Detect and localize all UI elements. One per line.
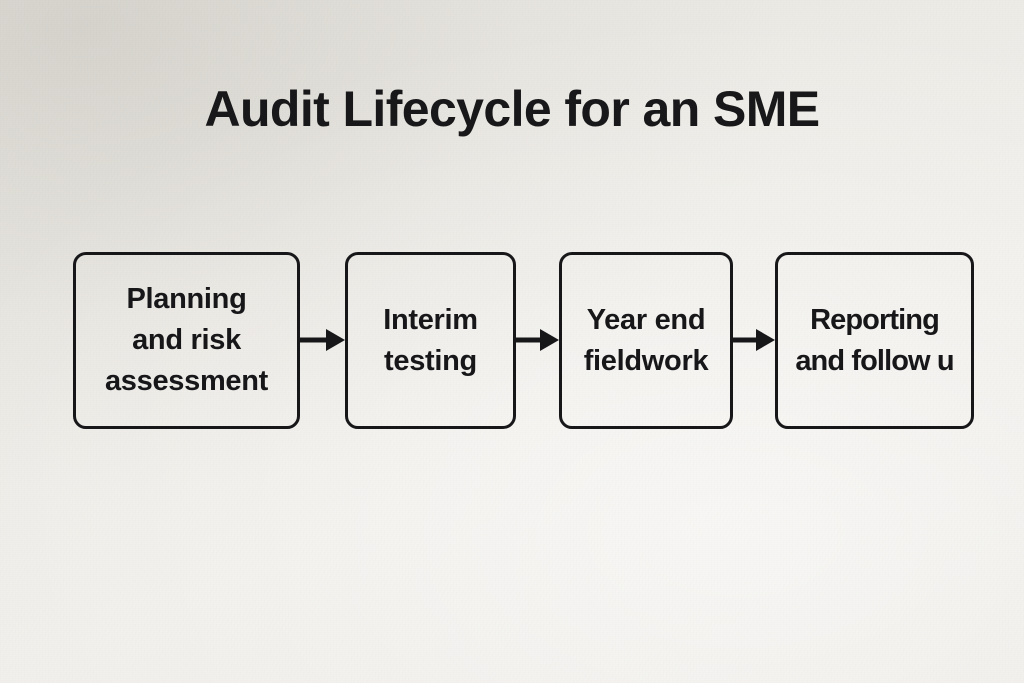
diagram-canvas: Audit Lifecycle for an SME Planning and … [0,0,1024,683]
flow-node-interim-testing[interactable]: Interim testing [345,252,516,429]
flow-node-reporting-and-follow-up[interactable]: Reporting and follow u [775,252,974,429]
flow-node-label: Year end fieldwork [580,300,713,382]
flow-arrow-1 [300,326,346,354]
page-title: Audit Lifecycle for an SME [0,80,1024,138]
flow-node-label: Reporting and follow u [793,300,955,382]
flow-node-label: Interim testing [379,300,482,382]
flow-node-planning-and-risk-assessment[interactable]: Planning and risk assessment [73,252,300,429]
flow-node-label: Planning and risk assessment [101,279,272,402]
flow-arrow-3 [733,326,776,354]
flow-node-year-end-fieldwork[interactable]: Year end fieldwork [559,252,733,429]
flow-arrow-2 [516,326,560,354]
